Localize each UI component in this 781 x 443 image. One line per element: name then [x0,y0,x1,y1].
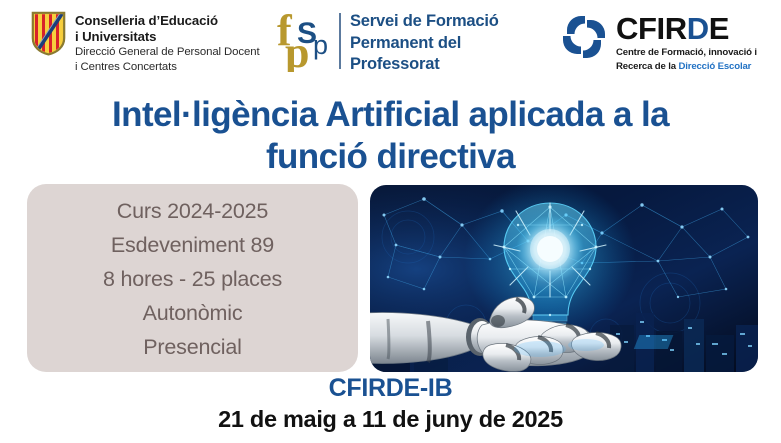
fsp-text-block: Servei de Formació Permanent del Profess… [350,10,499,75]
info-line-modalitat: Presencial [143,330,241,364]
ai-robot-hand-lightbulb-image [370,185,758,372]
cfirde-pinwheel-icon [560,13,608,61]
course-info-panel: Curs 2024-2025 Esdeveniment 89 8 hores -… [27,184,358,372]
page-title: Intel·ligència Artificial aplicada a la … [0,94,781,178]
cfirde-word-part1: CFIR [616,11,687,46]
cfirde-sub-line2: Recerca de la Direcció Escolar [616,61,757,73]
page-title-line1: Intel·ligència Artificial aplicada a la [0,94,781,136]
hero-illustration [370,185,758,372]
cfirde-sub-line2-blue: Direcció Escolar [678,61,751,72]
page-title-line2: funció directiva [0,136,781,178]
fsp-logo: f p S p Servei de Formació Permanent del… [277,10,499,75]
header-logo-strip: Conselleria d’Educació i Universitats Di… [0,0,781,92]
svg-text:p: p [313,30,328,60]
cfirde-wordmark: CFIRDE [616,13,757,45]
conselleria-text-block: Conselleria d’Educació i Universitats Di… [75,11,260,74]
cfirde-logo: CFIRDE Centre de Formació, innovació i R… [560,13,757,72]
balearic-shield-icon [31,11,66,56]
conselleria-title-line2: i Universitats [75,29,260,45]
fsp-title-line3: Professorat [350,53,499,75]
cfirde-sub-line2-black: Recerca de la [616,61,678,72]
cfirde-text-block: CFIRDE Centre de Formació, innovació i R… [616,13,757,72]
cfirde-word-part3: E [709,11,729,46]
info-line-hores-places: 8 hores - 25 places [103,262,282,296]
fsp-monogram-icon: f p S p [277,10,335,72]
fsp-divider [339,13,341,69]
conselleria-sub-line2: i Centres Concertats [75,60,260,74]
conselleria-sub-line1: Direcció General de Personal Docent [75,45,260,59]
info-line-esdeveniment: Esdeveniment 89 [111,228,274,262]
fsp-title-line2: Permanent del [350,32,499,54]
footer-dates: 21 de maig a 11 de juny de 2025 [0,405,781,434]
footer-organiser: CFIRDE-IB [0,374,781,403]
cfirde-sub-line1: Centre de Formació, innovació i [616,47,757,59]
conselleria-logo: Conselleria d’Educació i Universitats Di… [31,11,260,74]
info-line-ambit: Autonòmic [143,296,243,330]
info-line-curs: Curs 2024-2025 [117,194,268,228]
cfirde-word-part2: D [687,11,709,46]
conselleria-title-line1: Conselleria d’Educació [75,13,260,29]
footer-block: CFIRDE-IB 21 de maig a 11 de juny de 202… [0,374,781,434]
fsp-title-line1: Servei de Formació [350,10,499,32]
